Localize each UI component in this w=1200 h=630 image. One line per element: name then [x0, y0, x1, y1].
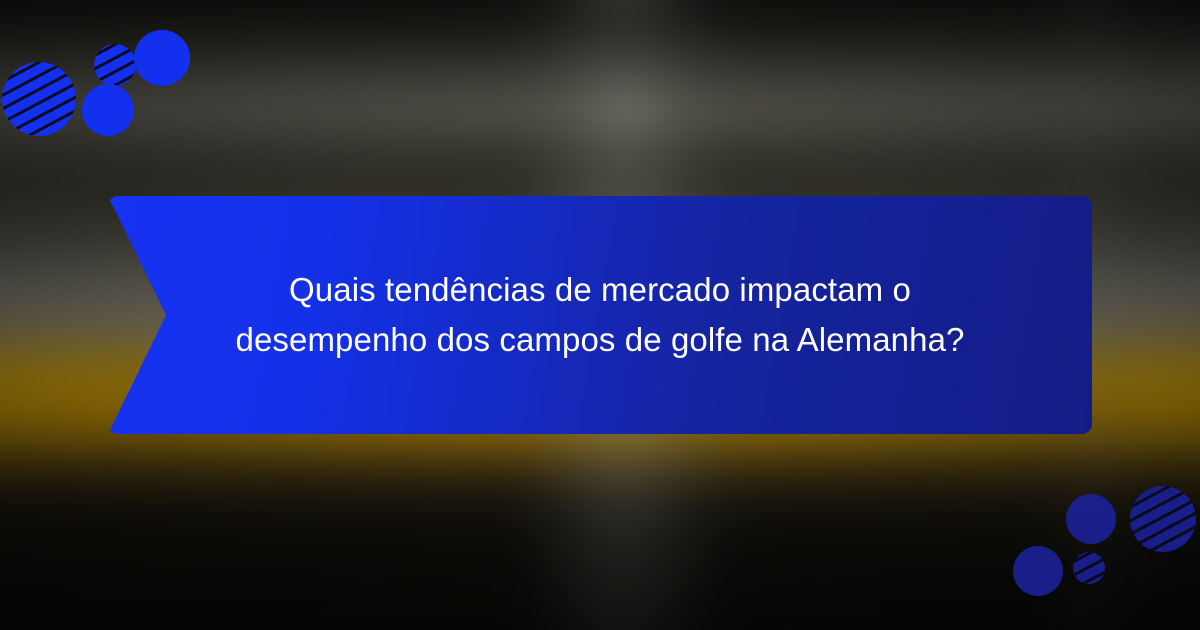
- plain-circle: [82, 84, 134, 136]
- plain-circle: [1013, 546, 1063, 596]
- ribbon-right-notch: [1031, 196, 1093, 434]
- striped-circle: [94, 44, 136, 86]
- plain-circle: [134, 30, 190, 86]
- share-card-canvas: Quais tendências de mercado impactam o d…: [0, 0, 1200, 630]
- headline-text: Quais tendências de mercado impactam o d…: [180, 265, 1020, 365]
- striped-circle: [1073, 552, 1105, 584]
- striped-circle: [2, 62, 76, 136]
- headline-ribbon-banner: Quais tendências de mercado impactam o d…: [108, 196, 1092, 434]
- plain-circle: [1066, 494, 1116, 544]
- striped-circle: [1130, 486, 1196, 552]
